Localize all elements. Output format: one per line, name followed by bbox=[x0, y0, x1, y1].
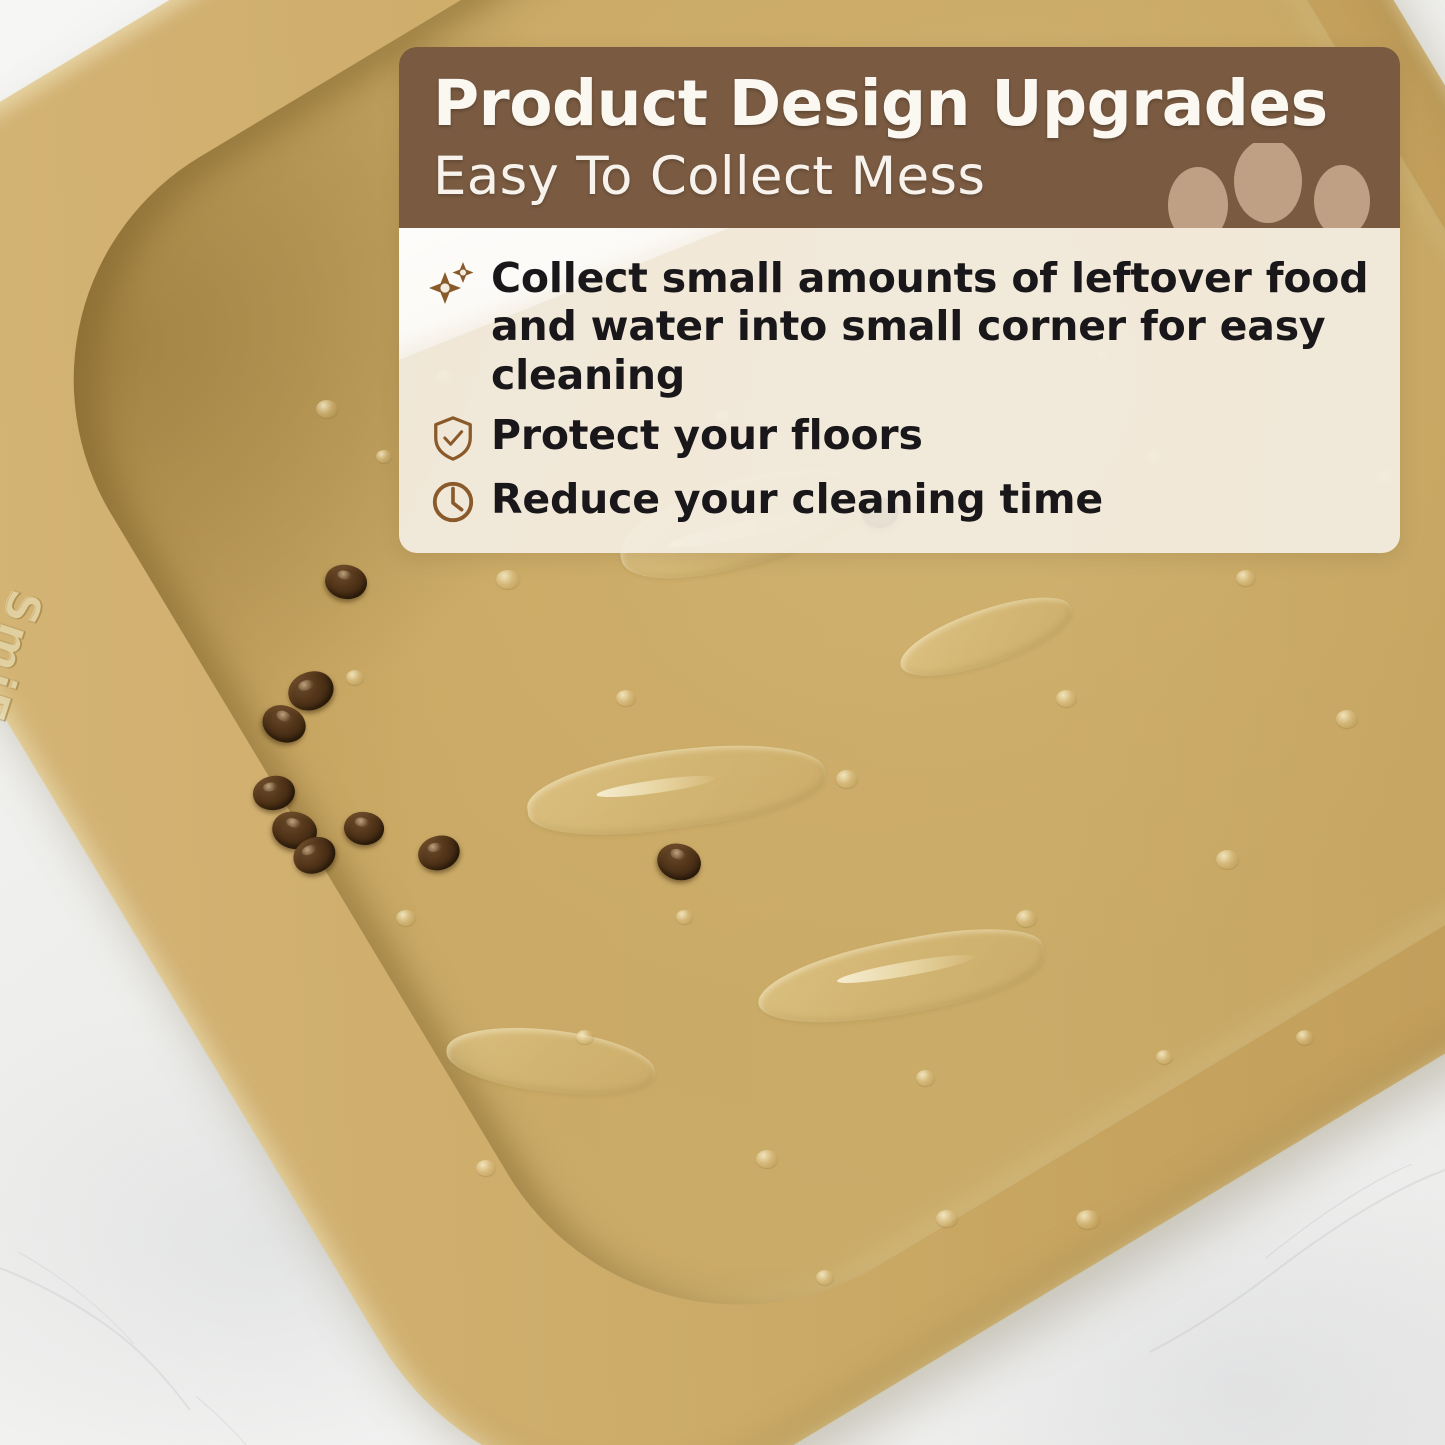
list-item: Reduce your cleaning time bbox=[429, 475, 1370, 527]
card-header: Product Design Upgrades Easy To Collect … bbox=[399, 47, 1400, 228]
feature-bullet-list: Collect small amounts of leftover food a… bbox=[429, 254, 1370, 527]
list-item-label: Protect your floors bbox=[491, 411, 923, 459]
shield-check-icon bbox=[429, 413, 477, 463]
card-subtitle: Easy To Collect Mess bbox=[433, 147, 1366, 206]
sparkle-icon bbox=[429, 260, 477, 310]
list-item-label: Collect small amounts of leftover food a… bbox=[491, 254, 1370, 399]
list-item: Collect small amounts of leftover food a… bbox=[429, 254, 1370, 399]
list-item: Protect your floors bbox=[429, 411, 1370, 463]
clock-icon bbox=[429, 477, 477, 527]
feature-callout-card: Product Design Upgrades Easy To Collect … bbox=[399, 47, 1400, 553]
list-item-label: Reduce your cleaning time bbox=[491, 475, 1103, 523]
card-body: Collect small amounts of leftover food a… bbox=[399, 228, 1400, 553]
card-title: Product Design Upgrades bbox=[433, 71, 1366, 137]
product-marketing-image: SmiFool bbox=[0, 0, 1445, 1445]
